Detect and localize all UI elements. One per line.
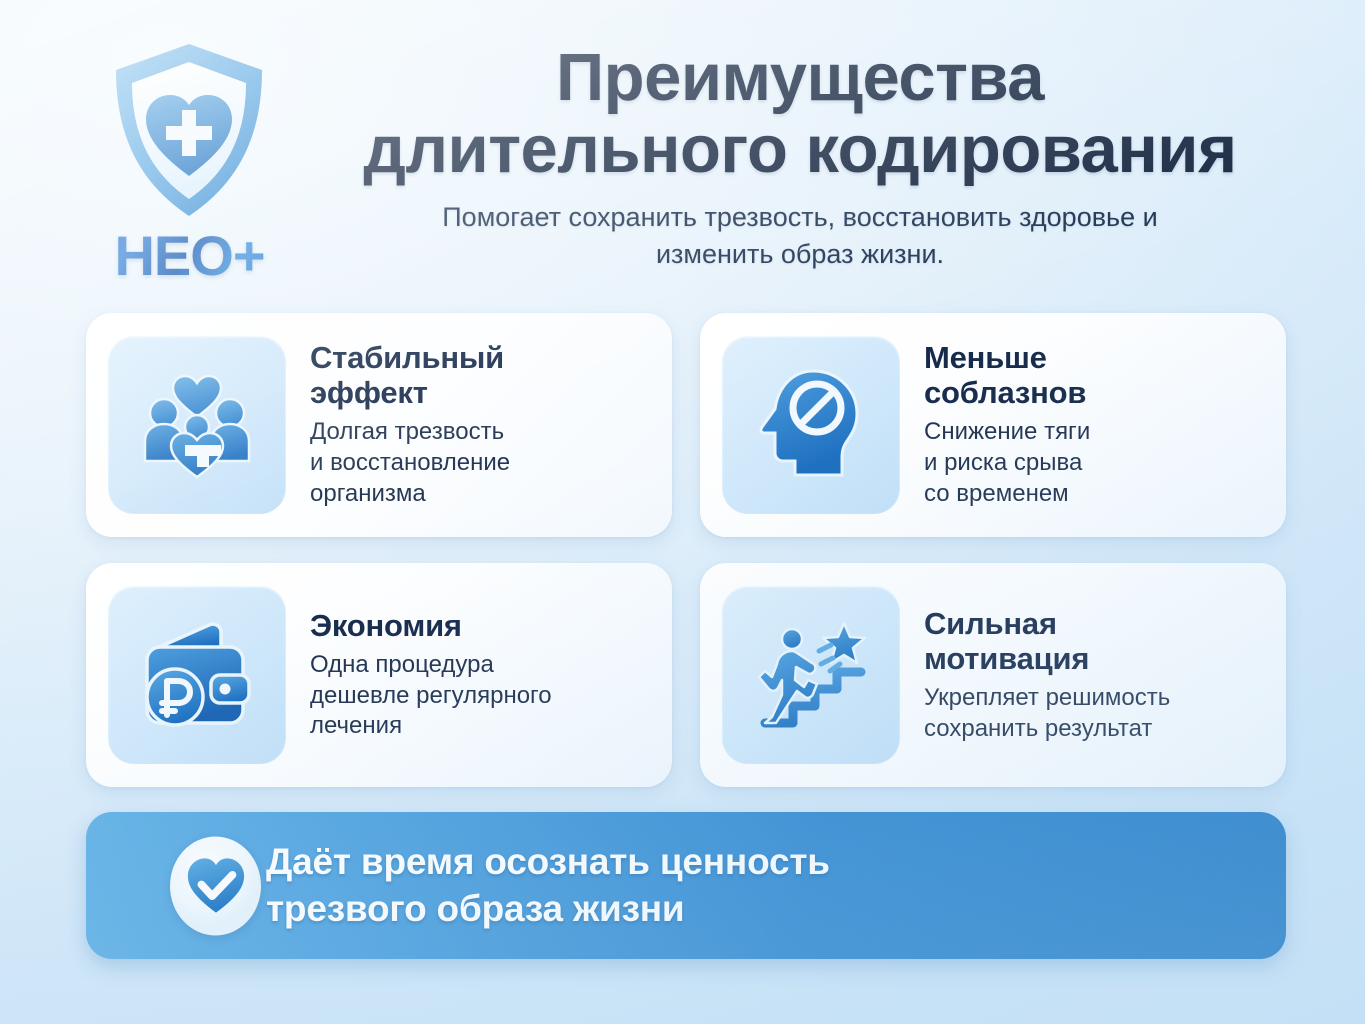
card-title: Экономия [310, 608, 654, 643]
card-desc-line2: и восстановление [310, 449, 510, 476]
page-subtitle-line1: Помогает сохранить трезвость, восстанови… [442, 202, 1011, 232]
card-desc-line1: Одна процедура [310, 651, 494, 678]
page-subtitle: Помогает сохранить трезвость, восстанови… [430, 199, 1170, 272]
card-description: Одна процедура дешевле регулярного лечен… [310, 650, 654, 743]
brand-block: HEO+ [72, 38, 307, 284]
title-block: Преимущества длительного кодирования Пом… [300, 42, 1300, 273]
wallet-ruble-icon [108, 586, 286, 764]
benefit-card-stable-effect: Стабильный эффект Долгая трезвость и вос… [86, 313, 672, 537]
card-desc-line2: и риска срыва [924, 449, 1082, 476]
card-desc-line3: со временем [924, 480, 1069, 507]
brand-logotype: HEO+ [72, 228, 307, 284]
infographic-poster: HEO+ Преимущества длительного кодировани… [0, 0, 1365, 1024]
card-title: Сильная мотивация [924, 606, 1268, 676]
card-title-line1: Экономия [310, 608, 462, 643]
benefit-card-savings: Экономия Одна процедура дешевле регулярн… [86, 563, 672, 787]
card-title-line2: мотивация [924, 641, 1089, 676]
card-description: Укрепляет решимость сохранить результат [924, 683, 1268, 745]
card-text: Экономия Одна процедура дешевле регулярн… [310, 608, 654, 743]
card-title-line1: Сильная [924, 606, 1057, 641]
benefit-card-motivation: Сильная мотивация Укрепляет решимость со… [700, 563, 1286, 787]
page-title: Преимущества длительного кодирования [300, 42, 1300, 185]
shield-heart-plus-icon [102, 38, 277, 224]
person-stairs-star-icon [722, 586, 900, 764]
card-description: Долгая трезвость и восстановление органи… [310, 417, 654, 510]
banner-text-line1: Даёт время осознать ценность [266, 839, 830, 885]
card-desc-line1: Снижение тяги [924, 418, 1090, 445]
banner-text-line2: трезвого образа жизни [266, 886, 830, 932]
card-title-line1: Меньше [924, 340, 1047, 375]
heart-check-icon [170, 836, 261, 935]
card-desc-line2: сохранить результат [924, 715, 1152, 742]
head-no-entry-icon [722, 336, 900, 514]
card-title-line2: соблазнов [924, 375, 1086, 410]
benefits-grid: Стабильный эффект Долгая трезвость и вос… [86, 313, 1286, 787]
card-title-line1: Стабильный [310, 340, 504, 375]
card-description: Снижение тяги и риска срыва со временем [924, 417, 1268, 510]
card-text: Сильная мотивация Укрепляет решимость со… [924, 606, 1268, 745]
card-desc-line3: организма [310, 480, 426, 507]
family-heart-plus-icon [108, 336, 286, 514]
header: HEO+ Преимущества длительного кодировани… [0, 0, 1365, 305]
card-desc-line1: Долгая трезвость [310, 418, 504, 445]
benefit-card-less-temptation: Меньше соблазнов Снижение тяги и риска с… [700, 313, 1286, 537]
card-desc-line3: лечения [310, 712, 402, 739]
card-desc-line2: дешевле регулярного [310, 682, 552, 709]
card-title: Стабильный эффект [310, 340, 654, 410]
card-title: Меньше соблазнов [924, 340, 1268, 410]
card-text: Стабильный эффект Долгая трезвость и вос… [310, 340, 654, 510]
page-title-line1: Преимущества [556, 40, 1044, 115]
page-title-line2: длительного кодирования [300, 114, 1300, 186]
card-text: Меньше соблазнов Снижение тяги и риска с… [924, 340, 1268, 510]
summary-banner: Даёт время осознать ценность трезвого об… [86, 812, 1286, 959]
banner-text: Даёт время осознать ценность трезвого об… [266, 839, 830, 932]
card-desc-line1: Укрепляет решимость [924, 684, 1170, 711]
card-title-line2: эффект [310, 375, 428, 410]
